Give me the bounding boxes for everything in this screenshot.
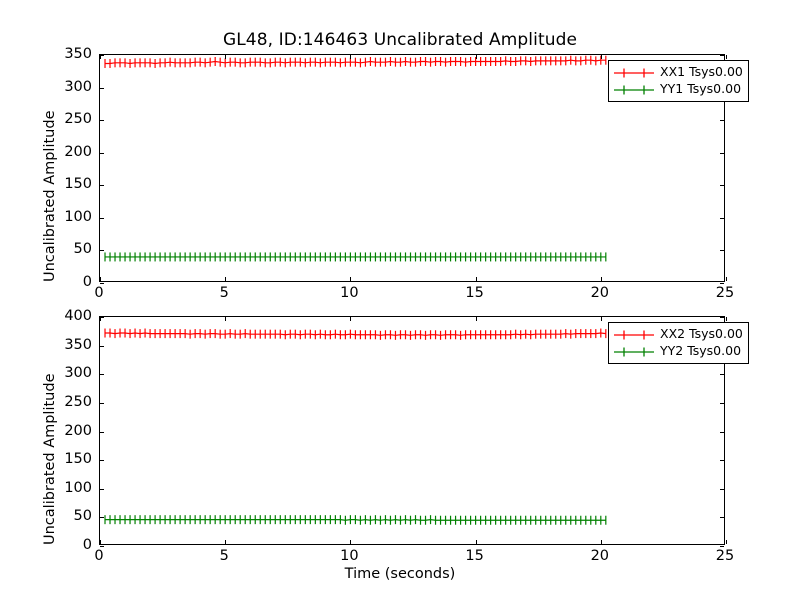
- y-tick: [720, 218, 724, 219]
- y-tick: [720, 185, 724, 186]
- x-tick: [100, 277, 101, 281]
- y-tick: [100, 120, 104, 121]
- x-tick: [726, 55, 727, 59]
- x-tick: [225, 540, 226, 544]
- x-tick-label: 0: [69, 549, 129, 564]
- x-tick: [601, 317, 602, 321]
- y-tick-label: 300: [0, 80, 92, 95]
- x-tick: [726, 277, 727, 281]
- legend-entry: YY1 Tsys0.00: [613, 81, 743, 98]
- y-tick: [100, 517, 104, 518]
- y-tick: [720, 374, 724, 375]
- y-tick: [720, 546, 724, 547]
- series-yy1: [105, 252, 606, 261]
- y-tick: [100, 374, 104, 375]
- y-tick: [100, 460, 104, 461]
- legend-entry: YY2 Tsys0.00: [613, 343, 743, 360]
- x-tick-label: 20: [570, 549, 630, 564]
- x-tick: [476, 317, 477, 321]
- legend-label-yy1: YY1 Tsys0.00: [660, 83, 741, 96]
- x-tick: [225, 55, 226, 59]
- series-xx2: [105, 329, 606, 340]
- series-xx1: [105, 56, 606, 68]
- legend-swatch-yy1: [613, 83, 655, 97]
- legend-bottom: XX2 Tsys0.00 YY2 Tsys0.00: [608, 322, 749, 364]
- y-tick: [720, 55, 724, 56]
- y-tick: [100, 403, 104, 404]
- x-tick: [350, 277, 351, 281]
- x-tick: [476, 277, 477, 281]
- x-tick: [601, 540, 602, 544]
- x-tick: [726, 317, 727, 321]
- y-tick: [100, 546, 104, 547]
- y-tick: [720, 517, 724, 518]
- y-tick: [100, 283, 104, 284]
- y-axis-label-top: Uncalibrated Amplitude: [42, 111, 58, 283]
- legend-swatch-xx2: [613, 328, 655, 342]
- legend-entry: XX1 Tsys0.00: [613, 64, 743, 81]
- y-tick: [720, 460, 724, 461]
- y-tick-label: 350: [0, 47, 92, 62]
- y-axis-label-bottom: Uncalibrated Amplitude: [42, 374, 58, 546]
- y-tick: [720, 153, 724, 154]
- x-tick-label: 5: [194, 286, 254, 301]
- x-tick-label: 0: [69, 286, 129, 301]
- x-tick: [476, 540, 477, 544]
- x-tick: [350, 55, 351, 59]
- legend-label-yy2: YY2 Tsys0.00: [660, 345, 741, 358]
- y-tick: [720, 432, 724, 433]
- x-tick: [225, 317, 226, 321]
- x-tick: [350, 540, 351, 544]
- x-axis-label: Time (seconds): [0, 566, 800, 582]
- x-tick-label: 25: [695, 286, 755, 301]
- y-tick: [720, 120, 724, 121]
- x-tick: [225, 277, 226, 281]
- y-tick: [100, 185, 104, 186]
- x-tick: [476, 55, 477, 59]
- x-tick: [100, 55, 101, 59]
- x-tick: [726, 540, 727, 544]
- x-tick-label: 10: [319, 549, 379, 564]
- y-tick: [100, 346, 104, 347]
- y-tick: [720, 283, 724, 284]
- legend-entry: XX2 Tsys0.00: [613, 326, 743, 343]
- figure-title: GL48, ID:146463 Uncalibrated Amplitude: [0, 30, 800, 50]
- y-tick: [100, 218, 104, 219]
- y-tick: [720, 489, 724, 490]
- y-tick: [720, 317, 724, 318]
- y-tick-label: 400: [0, 309, 92, 324]
- x-tick-label: 15: [445, 549, 505, 564]
- x-tick-label: 20: [570, 286, 630, 301]
- y-tick: [100, 432, 104, 433]
- figure-canvas: GL48, ID:146463 Uncalibrated Amplitude 0…: [0, 0, 800, 600]
- x-tick: [350, 317, 351, 321]
- x-tick-label: 25: [695, 549, 755, 564]
- legend-swatch-yy2: [613, 345, 655, 359]
- y-tick: [720, 403, 724, 404]
- y-tick: [720, 250, 724, 251]
- y-tick: [100, 153, 104, 154]
- legend-top: XX1 Tsys0.00 YY1 Tsys0.00: [608, 60, 749, 102]
- y-tick-label: 350: [0, 338, 92, 353]
- x-tick-label: 5: [194, 549, 254, 564]
- series-yy2: [105, 515, 606, 525]
- legend-label-xx2: XX2 Tsys0.00: [660, 328, 743, 341]
- legend-label-xx1: XX1 Tsys0.00: [660, 66, 743, 79]
- y-tick: [100, 88, 104, 89]
- x-tick-label: 10: [319, 286, 379, 301]
- x-tick: [601, 277, 602, 281]
- x-tick: [100, 317, 101, 321]
- x-tick: [601, 55, 602, 59]
- y-tick: [100, 489, 104, 490]
- legend-swatch-xx1: [613, 66, 655, 80]
- x-tick: [100, 540, 101, 544]
- y-tick: [100, 250, 104, 251]
- x-tick-label: 15: [445, 286, 505, 301]
